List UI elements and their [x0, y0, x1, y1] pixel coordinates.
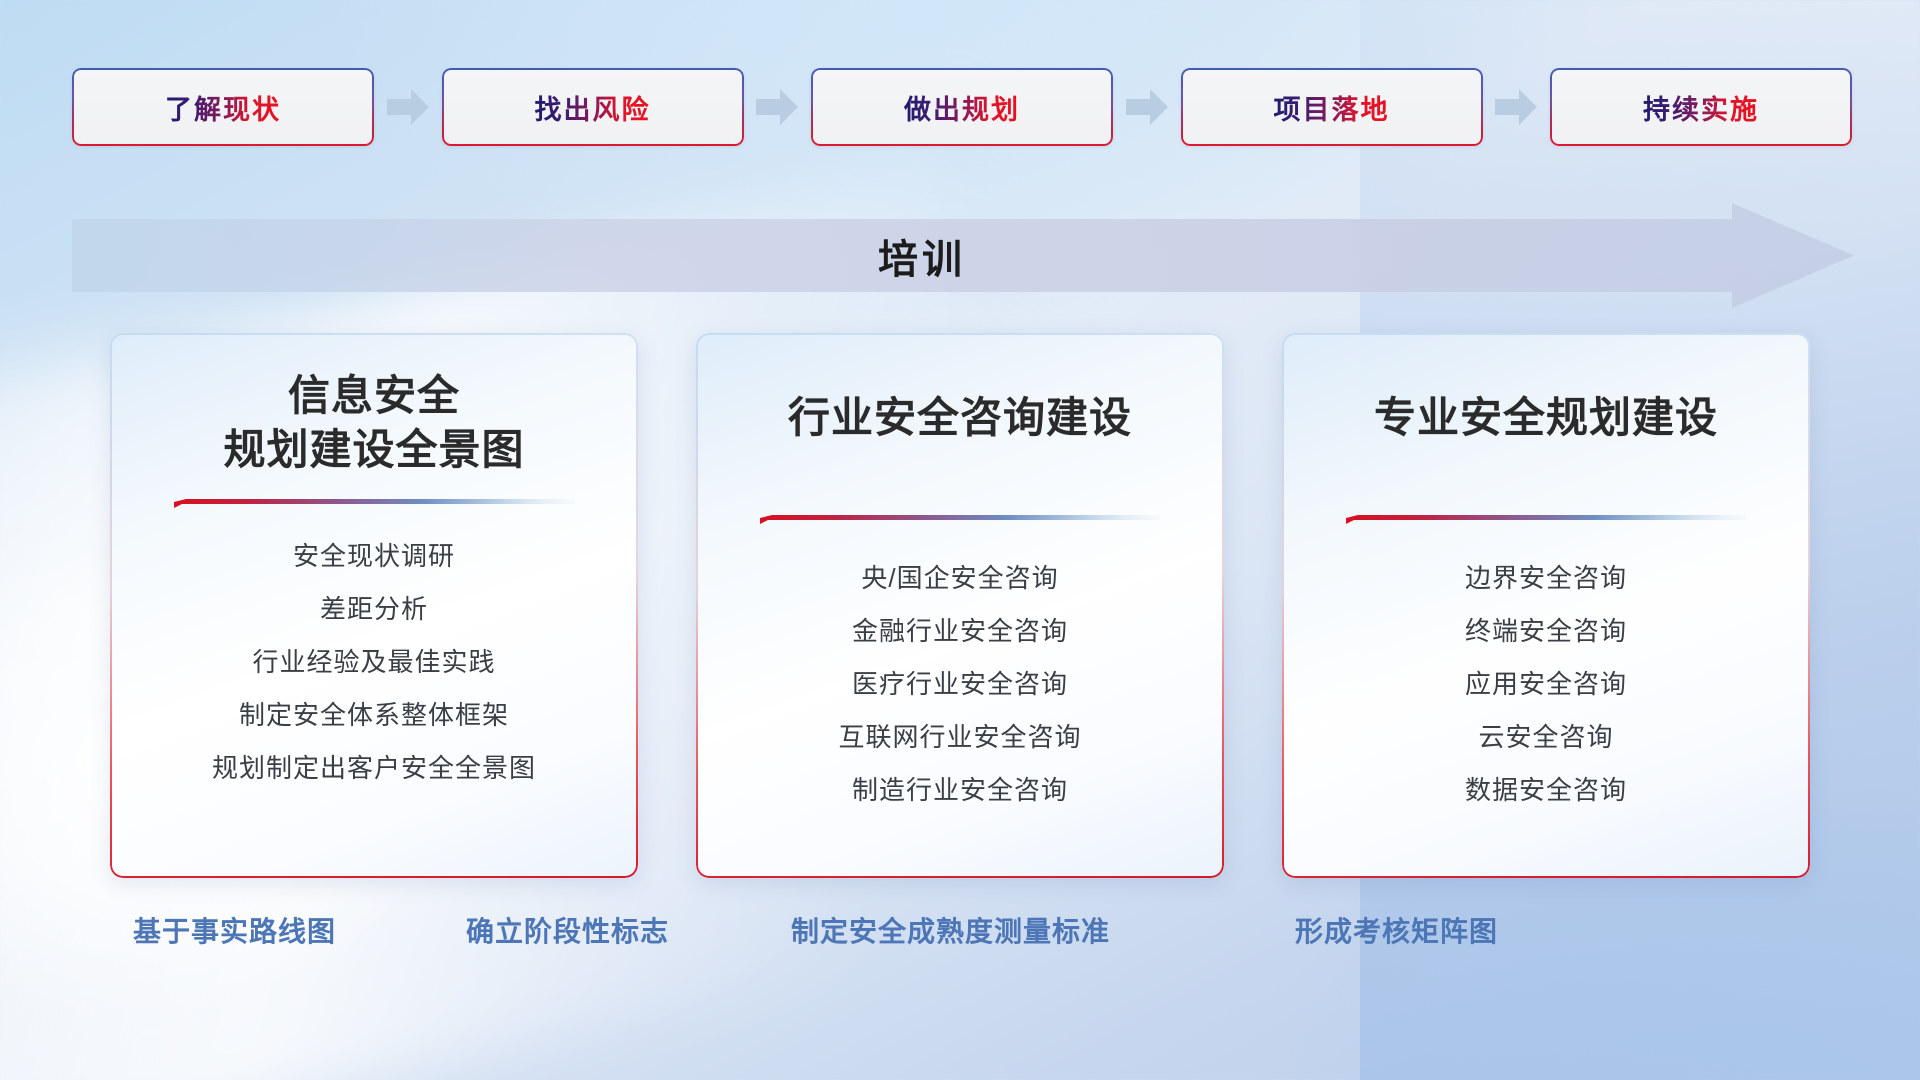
process-step-2-label: 做出规划: [904, 88, 1020, 127]
footnote-label-3: 形成考核矩阵图: [1295, 910, 1498, 950]
card-list-item: 制定安全体系整体框架: [136, 702, 612, 728]
card-divider-wrap: [136, 499, 612, 511]
card-list-item: 金融行业安全咨询: [722, 618, 1198, 644]
card-list-item: 规划制定出客户安全全景图: [136, 755, 612, 781]
card-list-item: 央/国企安全咨询: [722, 565, 1198, 591]
card-list-item: 终端安全咨询: [1308, 618, 1784, 644]
process-step-1[interactable]: 找出风险: [442, 68, 744, 146]
card-item-list: 边界安全咨询 终端安全咨询 应用安全咨询 云安全咨询 数据安全咨询: [1308, 565, 1784, 803]
process-arrow-icon-0: [387, 89, 429, 125]
card-item-list: 安全现状调研 差距分析 行业经验及最佳实践 制定安全体系整体框架 规划制定出客户…: [136, 543, 612, 781]
gradient-divider-icon: [760, 515, 1160, 527]
process-step-0[interactable]: 了解现状: [72, 68, 374, 146]
training-banner-label: 培训: [878, 227, 966, 285]
gradient-divider-icon: [1346, 515, 1746, 527]
process-step-3-label: 项目落地: [1274, 88, 1390, 127]
card-item-list: 央/国企安全咨询 金融行业安全咨询 医疗行业安全咨询 互联网行业安全咨询 制造行…: [722, 565, 1198, 803]
card-industry-security-consulting[interactable]: 行业安全咨询建设: [696, 333, 1224, 878]
card-title: 专业安全规划建设: [1308, 391, 1784, 445]
training-banner-label-wrap: 培训: [72, 203, 1772, 308]
footnote-label-1: 确立阶段性标志: [466, 910, 669, 950]
process-step-2[interactable]: 做出规划: [811, 68, 1113, 146]
card-list-item: 应用安全咨询: [1308, 671, 1784, 697]
process-arrow-icon-1: [756, 89, 798, 125]
process-arrow-icon-2: [1126, 89, 1168, 125]
gradient-divider-icon: [174, 499, 574, 511]
process-step-1-label: 找出风险: [535, 88, 651, 127]
card-divider-wrap: [1308, 515, 1784, 527]
card-title: 信息安全 规划建设全景图: [136, 369, 612, 477]
process-step-3[interactable]: 项目落地: [1181, 68, 1483, 146]
process-arrow-icon-3: [1495, 89, 1537, 125]
card-list-item: 云安全咨询: [1308, 724, 1784, 750]
card-list-item: 数据安全咨询: [1308, 777, 1784, 803]
card-list-item: 医疗行业安全咨询: [722, 671, 1198, 697]
process-step-row: 了解现状 找出风险 做出规划 项目落地 持续实施: [72, 68, 1852, 146]
card-inner: 信息安全 规划建设全景图: [110, 333, 638, 878]
footnote-label-0: 基于事实路线图: [133, 910, 336, 950]
card-list-item: 行业经验及最佳实践: [136, 649, 612, 675]
training-banner: 培训: [72, 203, 1854, 308]
card-title: 行业安全咨询建设: [722, 391, 1198, 445]
card-title-line1: 信息安全: [136, 369, 612, 423]
process-step-0-label: 了解现状: [165, 88, 281, 127]
card-inner: 专业安全规划建设: [1282, 333, 1810, 878]
process-step-4[interactable]: 持续实施: [1550, 68, 1852, 146]
card-list-item: 差距分析: [136, 596, 612, 622]
card-list-item: 安全现状调研: [136, 543, 612, 569]
card-row: 信息安全 规划建设全景图: [110, 333, 1810, 878]
footnote-label-2: 制定安全成熟度测量标准: [791, 910, 1110, 950]
process-step-4-label: 持续实施: [1643, 88, 1759, 127]
card-title-line1: 行业安全咨询建设: [722, 391, 1198, 445]
footnote-row: 基于事实路线图 确立阶段性标志 制定安全成熟度测量标准 形成考核矩阵图: [0, 910, 1920, 970]
card-title-line1: 专业安全规划建设: [1308, 391, 1784, 445]
card-list-item: 边界安全咨询: [1308, 565, 1784, 591]
card-divider-wrap: [722, 515, 1198, 527]
card-title-line2: 规划建设全景图: [136, 423, 612, 477]
card-list-item: 制造行业安全咨询: [722, 777, 1198, 803]
card-professional-security-planning[interactable]: 专业安全规划建设: [1282, 333, 1810, 878]
card-list-item: 互联网行业安全咨询: [722, 724, 1198, 750]
card-info-security-blueprint[interactable]: 信息安全 规划建设全景图: [110, 333, 638, 878]
card-inner: 行业安全咨询建设: [696, 333, 1224, 878]
